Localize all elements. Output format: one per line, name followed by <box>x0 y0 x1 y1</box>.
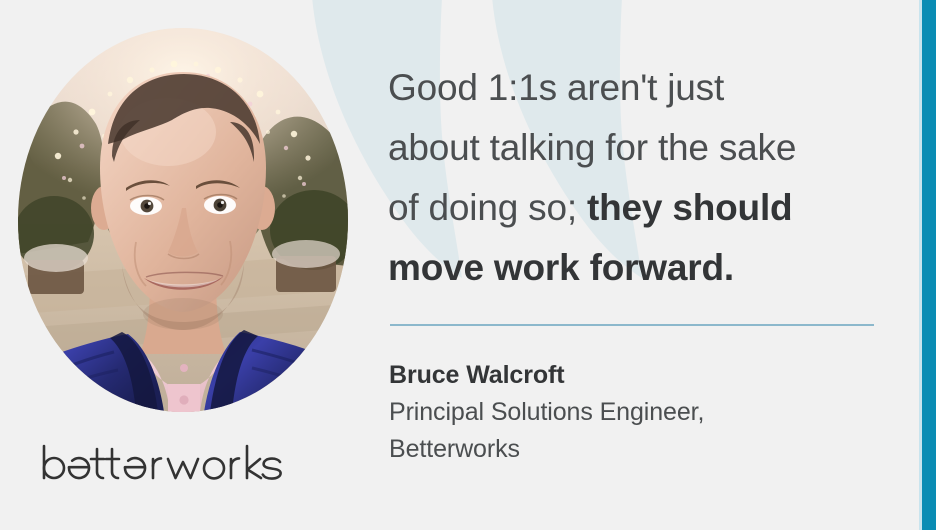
quote-line-4-emphasis: move work forward. <box>388 247 734 288</box>
author-role-line-2: Betterworks <box>389 435 520 463</box>
quote-card: Good 1:1s aren't justabout talking for t… <box>0 0 936 530</box>
author-name: Bruce Walcroft <box>389 356 889 394</box>
accent-stripe <box>922 0 936 530</box>
betterworks-logo <box>40 440 296 488</box>
quote-line-2: about talking for the sake <box>388 127 796 168</box>
avatar <box>18 28 348 412</box>
quote-line-3-plain: of doing so; <box>388 187 587 228</box>
author-role-line-1: Principal Solutions Engineer, <box>389 398 704 426</box>
quote-line-1: Good 1:1s aren't just <box>388 67 724 108</box>
quote-block: Good 1:1s aren't justabout talking for t… <box>388 58 888 298</box>
portrait-photo <box>18 28 348 412</box>
divider <box>390 324 874 326</box>
author-role: Principal Solutions Engineer,Betterworks <box>389 394 889 468</box>
quote-text: Good 1:1s aren't justabout talking for t… <box>388 58 888 298</box>
attribution-block: Bruce Walcroft Principal Solutions Engin… <box>389 356 889 468</box>
quote-line-3-emphasis: they should <box>587 187 792 228</box>
